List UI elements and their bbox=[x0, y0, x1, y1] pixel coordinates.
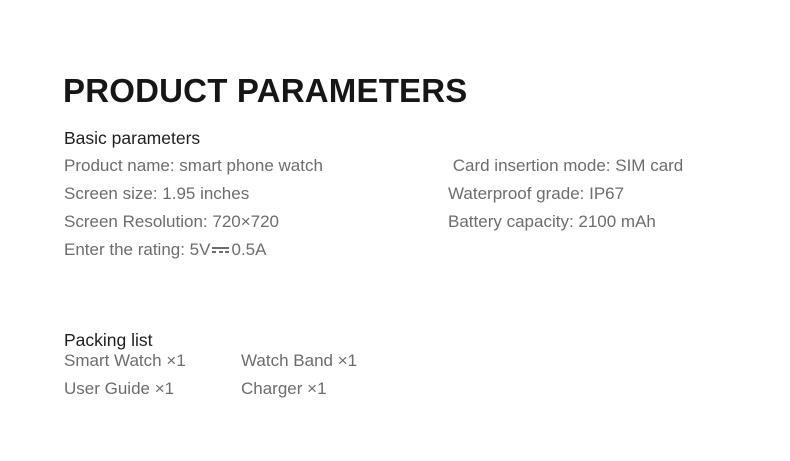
packing-item-user-guide: User Guide ×1 bbox=[64, 375, 186, 403]
product-parameters-page: PRODUCT PARAMETERS Basic parameters Prod… bbox=[0, 0, 790, 461]
spec-row-screen-resolution: Screen Resolution: 720×720 bbox=[64, 208, 323, 236]
packing-list-right-column: Watch Band ×1 Charger ×1 bbox=[241, 347, 357, 403]
packing-item-smart-watch: Smart Watch ×1 bbox=[64, 347, 186, 375]
packing-item-watch-band: Watch Band ×1 bbox=[241, 347, 357, 375]
basic-parameters-left-column: Product name: smart phone watch Screen s… bbox=[64, 152, 323, 264]
packing-item-charger: Charger ×1 bbox=[241, 375, 357, 403]
spec-row-card-insertion-mode: Card insertion mode: SIM card bbox=[448, 152, 683, 180]
spec-row-enter-the-rating: Enter the rating: 5V0.5A bbox=[64, 236, 323, 264]
packing-list-left-column: Smart Watch ×1 User Guide ×1 bbox=[64, 347, 186, 403]
basic-parameters-right-column: Card insertion mode: SIM card Waterproof… bbox=[448, 152, 683, 236]
section-heading-basic-parameters: Basic parameters bbox=[64, 126, 200, 150]
spec-row-battery-capacity: Battery capacity: 2100 mAh bbox=[448, 208, 683, 236]
spec-row-product-name: Product name: smart phone watch bbox=[64, 152, 323, 180]
rating-prefix-text: Enter the rating: 5V bbox=[64, 240, 210, 259]
dc-power-icon bbox=[212, 244, 229, 256]
page-title: PRODUCT PARAMETERS bbox=[63, 71, 468, 111]
spec-row-waterproof-grade: Waterproof grade: IP67 bbox=[448, 180, 683, 208]
spec-row-screen-size: Screen size: 1.95 inches bbox=[64, 180, 323, 208]
rating-suffix-text: 0.5A bbox=[231, 240, 266, 259]
